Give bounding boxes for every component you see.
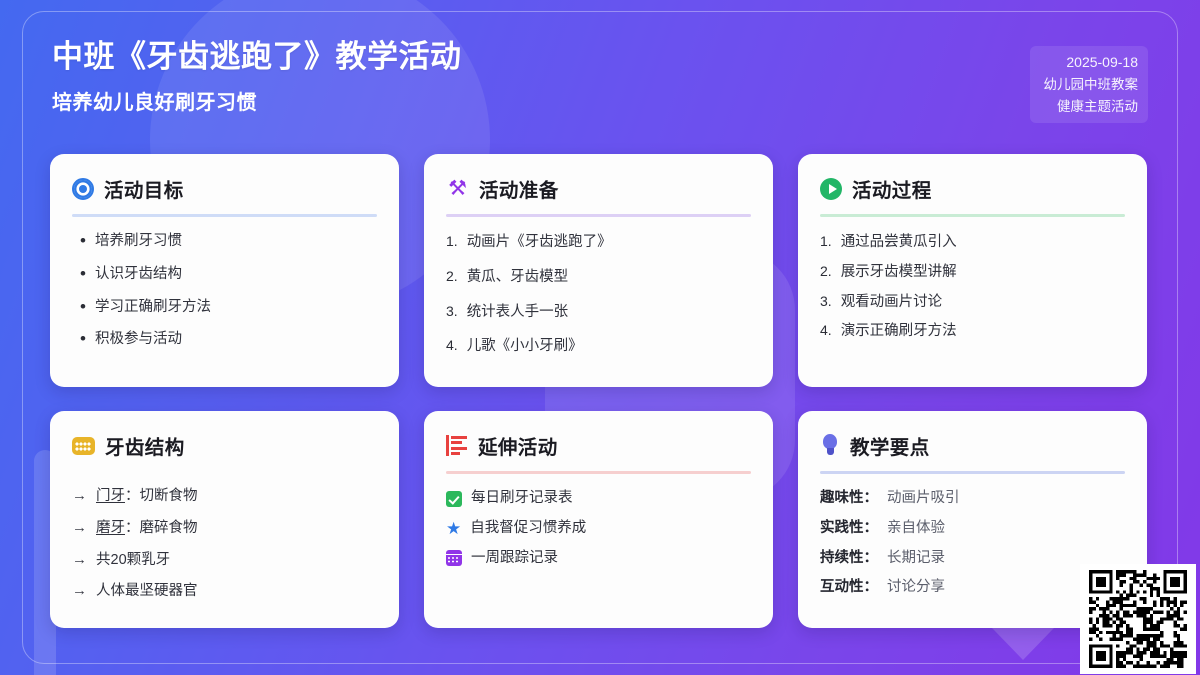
card-activity-goals[interactable]: 活动目标 •培养刷牙习惯 •认识牙齿结构 •学习正确刷牙方法 •积极参与活动	[50, 154, 399, 387]
check-square-icon	[446, 491, 462, 507]
point-key: 趣味性：	[820, 488, 878, 510]
calendar-icon	[446, 550, 462, 566]
number-marker: 1.	[446, 231, 458, 252]
number-marker: 4.	[446, 335, 458, 356]
card-title: 活动目标	[104, 174, 184, 203]
card-items: 每日刷牙记录表 ★自我督促习惯养成 一周跟踪记录	[446, 488, 751, 577]
point-key: 互动性：	[820, 577, 878, 599]
list-item-text: 人体最坚硬器官	[96, 581, 198, 603]
list-item-text: ：磨碎食物	[125, 520, 198, 536]
card-divider	[72, 214, 377, 217]
meta-theme: 健康主题活动	[1044, 96, 1139, 118]
list-item-text: ：切断食物	[125, 488, 198, 504]
list-item: 1.动画片《牙齿逃跑了》	[446, 231, 751, 254]
card-activity-preparation[interactable]: ⚒ 活动准备 1.动画片《牙齿逃跑了》 2.黄瓜、牙齿模型 3.统计表人手一张 …	[424, 154, 773, 387]
list-item-text: 学习正确刷牙方法	[95, 297, 211, 319]
card-items: →门牙：切断食物 →磨牙：磨碎食物 →共20颗乳牙 →人体最坚硬器官	[72, 485, 377, 612]
card-header: 活动目标	[72, 174, 377, 203]
list-item: 一周跟踪记录	[446, 548, 751, 570]
list-item: →磨牙：磨碎食物	[72, 517, 377, 540]
qr-code	[1089, 570, 1187, 668]
list-item-text: 展示牙齿模型讲解	[841, 262, 957, 284]
header-meta: 2025-09-18 幼儿园中班教案 健康主题活动	[1030, 46, 1149, 123]
bar-chart-icon	[446, 435, 468, 456]
card-extended-activity[interactable]: 延伸活动 每日刷牙记录表 ★自我督促习惯养成 一周跟踪记录	[424, 411, 773, 628]
qr-code-container[interactable]	[1080, 564, 1196, 674]
list-item-text: 儿歌《小小牙刷》	[467, 336, 583, 358]
list-item-text: 培养刷牙习惯	[95, 231, 182, 253]
card-divider	[820, 214, 1125, 217]
page-subtitle: 培养幼儿良好刷牙习惯	[52, 86, 1148, 115]
list-item-text: 统计表人手一张	[467, 302, 569, 324]
play-icon	[820, 178, 842, 200]
point-key: 持续性：	[820, 548, 878, 570]
card-title: 教学要点	[850, 431, 930, 460]
card-header: ⚒ 活动准备	[446, 174, 751, 203]
card-title: 牙齿结构	[105, 431, 185, 460]
list-item: •学习正确刷牙方法	[72, 297, 377, 319]
number-marker: 3.	[446, 301, 458, 322]
list-item: 1.通过品尝黄瓜引入	[820, 231, 1125, 254]
bullet-marker: •	[80, 232, 86, 249]
card-header: 教学要点	[820, 431, 1125, 460]
list-item: 3.统计表人手一张	[446, 301, 751, 324]
page-title: 中班《牙齿逃跑了》教学活动	[52, 38, 1148, 77]
number-marker: 2.	[820, 261, 832, 282]
star-icon: ★	[446, 520, 461, 537]
card-title: 延伸活动	[478, 431, 558, 460]
term-label: 门牙	[96, 488, 125, 504]
list-item: 2.黄瓜、牙齿模型	[446, 266, 751, 289]
list-item: 趣味性：动画片吸引	[820, 488, 1125, 510]
list-item-text: 共20颗乳牙	[96, 550, 170, 572]
arrow-marker: →	[72, 485, 87, 508]
list-item-text: 演示正确刷牙方法	[841, 321, 957, 343]
list-item-text: 每日刷牙记录表	[471, 488, 573, 510]
list-item: →共20颗乳牙	[72, 549, 377, 572]
card-tooth-structure[interactable]: 牙齿结构 →门牙：切断食物 →磨牙：磨碎食物 →共20颗乳牙 →人体最坚硬器官	[50, 411, 399, 628]
bullet-marker: •	[80, 330, 86, 347]
list-item: ★自我督促习惯养成	[446, 518, 751, 540]
card-header: 延伸活动	[446, 431, 751, 460]
list-item-text: 观看动画片讨论	[841, 292, 943, 314]
slide-header: 中班《牙齿逃跑了》教学活动 培养幼儿良好刷牙习惯 2025-09-18 幼儿园中…	[52, 38, 1148, 138]
number-marker: 1.	[820, 231, 832, 252]
lightbulb-icon	[820, 434, 840, 457]
list-item-text: 一周跟踪记录	[471, 548, 558, 570]
list-item: →门牙：切断食物	[72, 485, 377, 508]
bullet-marker: •	[80, 298, 86, 315]
target-icon	[72, 178, 94, 200]
card-header: 活动过程	[820, 174, 1125, 203]
list-item: 3.观看动画片讨论	[820, 291, 1125, 314]
number-marker: 3.	[820, 291, 832, 312]
card-items: 1.通过品尝黄瓜引入 2.展示牙齿模型讲解 3.观看动画片讨论 4.演示正确刷牙…	[820, 231, 1125, 350]
arrow-marker: →	[72, 580, 87, 603]
card-grid: 活动目标 •培养刷牙习惯 •认识牙齿结构 •学习正确刷牙方法 •积极参与活动 ⚒…	[50, 154, 1150, 628]
list-item: 2.展示牙齿模型讲解	[820, 261, 1125, 284]
number-marker: 4.	[820, 320, 832, 341]
card-header: 牙齿结构	[72, 431, 377, 460]
card-divider	[446, 214, 751, 217]
point-value: 讨论分享	[887, 577, 945, 599]
card-title: 活动过程	[852, 174, 932, 203]
card-activity-process[interactable]: 活动过程 1.通过品尝黄瓜引入 2.展示牙齿模型讲解 3.观看动画片讨论 4.演…	[798, 154, 1147, 387]
list-item-text: 积极参与活动	[95, 329, 182, 351]
number-marker: 2.	[446, 266, 458, 287]
card-title: 活动准备	[479, 174, 559, 203]
bullet-marker: •	[80, 265, 86, 282]
card-divider	[446, 471, 751, 474]
point-value: 长期记录	[887, 548, 945, 570]
arrow-marker: →	[72, 549, 87, 572]
list-item: 4.儿歌《小小牙刷》	[446, 335, 751, 358]
arrow-marker: →	[72, 517, 87, 540]
list-item-text: 通过品尝黄瓜引入	[841, 232, 957, 254]
meta-date: 2025-09-18	[1044, 51, 1139, 74]
card-items: •培养刷牙习惯 •认识牙齿结构 •学习正确刷牙方法 •积极参与活动	[72, 231, 377, 362]
meta-category: 幼儿园中班教案	[1044, 74, 1139, 96]
list-item: •培养刷牙习惯	[72, 231, 377, 253]
teeth-icon	[72, 437, 95, 455]
list-item-text: 动画片《牙齿逃跑了》	[467, 232, 612, 254]
list-item: 每日刷牙记录表	[446, 488, 751, 510]
list-item: •认识牙齿结构	[72, 264, 377, 286]
list-item-text: 黄瓜、牙齿模型	[467, 267, 569, 289]
list-item: 实践性：亲自体验	[820, 518, 1125, 540]
point-key: 实践性：	[820, 518, 878, 540]
list-item: 4.演示正确刷牙方法	[820, 320, 1125, 343]
list-item-text: 认识牙齿结构	[95, 264, 182, 286]
term-label: 磨牙	[96, 520, 125, 536]
point-value: 亲自体验	[887, 518, 945, 540]
tools-icon: ⚒	[446, 177, 469, 200]
list-item: •积极参与活动	[72, 329, 377, 351]
card-divider	[820, 471, 1125, 474]
list-item: →人体最坚硬器官	[72, 580, 377, 603]
point-value: 动画片吸引	[887, 488, 960, 510]
card-items: 1.动画片《牙齿逃跑了》 2.黄瓜、牙齿模型 3.统计表人手一张 4.儿歌《小小…	[446, 231, 751, 370]
list-item-text: 自我督促习惯养成	[470, 518, 586, 540]
